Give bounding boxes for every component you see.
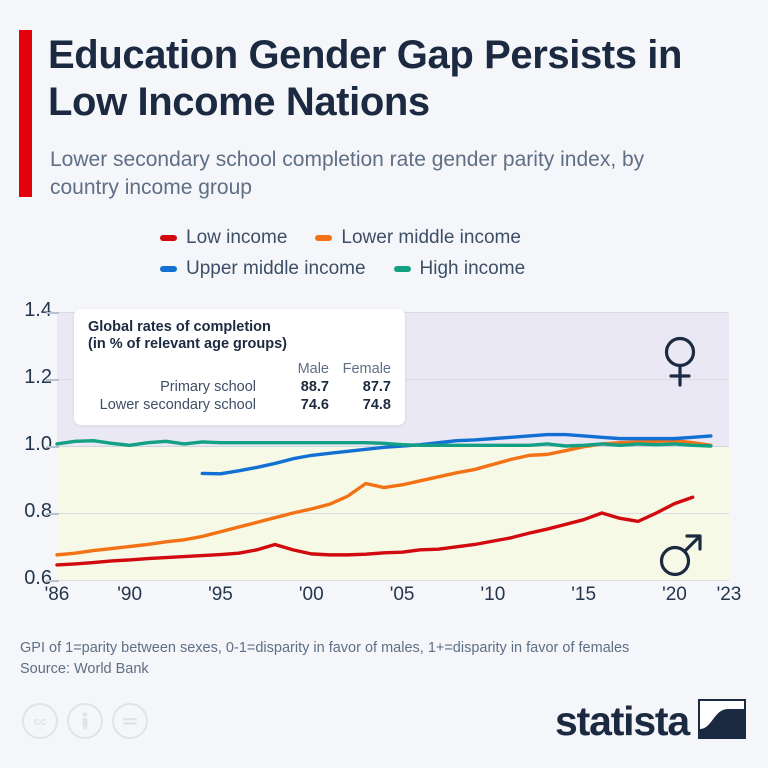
page-subtitle: Lower secondary school completion rate g… <box>50 146 710 202</box>
legend-swatch-upper-middle-income <box>160 266 177 272</box>
info-box-title-line-2: (in % of relevant age groups) <box>88 336 391 353</box>
y-tick-mark <box>46 580 59 582</box>
legend-item-high-income[interactable]: High income <box>394 258 526 280</box>
cc-by-person-icon[interactable] <box>67 703 103 739</box>
x-tick-label-00: '00 <box>299 584 324 606</box>
x-tick-label-15: '15 <box>571 584 596 606</box>
x-tick-label-23: '23 <box>717 584 742 606</box>
y-tick-mark <box>46 379 59 381</box>
legend-label-high-income: High income <box>420 258 526 280</box>
footnote-source: Source: World Bank <box>20 659 760 680</box>
lower-secondary-female-value: 74.8 <box>329 396 391 414</box>
legend-swatch-lower-middle-income <box>315 235 332 241</box>
female-symbol-icon <box>659 336 701 393</box>
footnote: GPI of 1=parity between sexes, 0-1=dispa… <box>20 638 760 680</box>
legend-item-lower-middle-income[interactable]: Lower middle income <box>315 227 521 249</box>
legend-row-2: Upper middle income High income <box>160 253 760 284</box>
svg-text:cc: cc <box>34 716 46 728</box>
cc-icon[interactable]: cc <box>22 703 58 739</box>
series-line-high-income <box>57 441 711 446</box>
statista-logo-mark <box>698 699 746 744</box>
page-title: Education Gender Gap Persists in Low Inc… <box>48 32 748 126</box>
column-header-male: Male <box>267 360 329 378</box>
primary-school-female-value: 87.7 <box>329 378 391 396</box>
table-row: Lower secondary school 74.6 74.8 <box>88 396 391 414</box>
info-box-title: Global rates of completion (in % of rele… <box>88 319 391 353</box>
legend-item-low-income[interactable]: Low income <box>160 227 287 249</box>
series-line-low-income <box>57 497 693 565</box>
table-header-row: Male Female <box>88 360 391 378</box>
row-label-primary-school: Primary school <box>88 378 267 396</box>
gridline-0.6 <box>57 580 729 581</box>
title-accent-bar <box>19 30 32 197</box>
info-box-title-line-1: Global rates of completion <box>88 319 391 336</box>
legend-swatch-low-income <box>160 235 177 241</box>
y-tick-label-1.4: 1.4 <box>0 299 52 322</box>
info-box: Global rates of completion (in % of rele… <box>74 309 405 425</box>
y-tick-mark <box>46 312 59 314</box>
legend-label-lower-middle-income: Lower middle income <box>341 227 521 249</box>
footnote-gpi-definition: GPI of 1=parity between sexes, 0-1=dispa… <box>20 638 760 659</box>
statista-wordmark: statista <box>555 701 689 742</box>
series-line-lower-middle-income <box>57 441 711 555</box>
column-header-female: Female <box>329 360 391 378</box>
x-tick-label-05: '05 <box>390 584 415 606</box>
creative-commons-icons: cc <box>22 703 148 739</box>
cc-nd-equals-icon[interactable] <box>112 703 148 739</box>
infographic-page: Education Gender Gap Persists in Low Inc… <box>0 0 768 768</box>
table-corner-cell <box>88 360 267 378</box>
legend-label-upper-middle-income: Upper middle income <box>186 258 366 280</box>
y-tick-mark <box>46 446 59 448</box>
statista-logo: statista <box>555 699 746 744</box>
legend-item-upper-middle-income[interactable]: Upper middle income <box>160 258 366 280</box>
row-label-lower-secondary-school: Lower secondary school <box>88 396 267 414</box>
info-box-table: Male Female Primary school 88.7 87.7 Low… <box>88 360 391 414</box>
x-tick-label-10: '10 <box>481 584 506 606</box>
y-tick-label-1.0: 1.0 <box>0 433 52 456</box>
x-tick-label-95: '95 <box>208 584 233 606</box>
x-tick-label-20: '20 <box>662 584 687 606</box>
legend-row-1: Low income Lower middle income <box>160 222 760 253</box>
primary-school-male-value: 88.7 <box>267 378 329 396</box>
x-tick-label-86: '86 <box>45 584 70 606</box>
x-tick-label-90: '90 <box>117 584 142 606</box>
male-symbol-icon <box>658 530 704 583</box>
y-tick-mark <box>46 513 59 515</box>
legend-label-low-income: Low income <box>186 227 287 249</box>
y-tick-label-0.8: 0.8 <box>0 500 52 523</box>
legend-swatch-high-income <box>394 266 411 272</box>
lower-secondary-male-value: 74.6 <box>267 396 329 414</box>
chart-legend: Low income Lower middle income Upper mid… <box>160 222 760 284</box>
y-tick-label-1.2: 1.2 <box>0 366 52 389</box>
table-row: Primary school 88.7 87.7 <box>88 378 391 396</box>
